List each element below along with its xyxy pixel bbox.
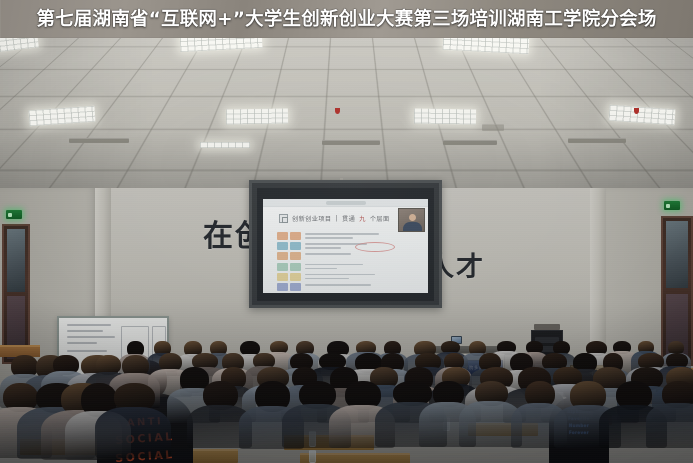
slide-row-chip (277, 263, 288, 271)
projected-slide: 创新创业项目 | 贯通 九 个层面 (263, 199, 428, 293)
whiteboard-note (67, 330, 103, 332)
slide-row-chips (277, 263, 301, 271)
slide-row-text (305, 283, 421, 291)
slide-title-rest: 贯通 (342, 214, 355, 223)
slide-row-chip (290, 242, 301, 250)
person-torso (646, 403, 693, 448)
slide-title-bullet-icon (279, 214, 288, 223)
slide-row (277, 252, 420, 260)
slide-row (277, 232, 420, 240)
slide-text-line (305, 274, 375, 276)
slide-row (277, 263, 420, 271)
slide-row-list (277, 232, 420, 293)
slide-title-separator: | (336, 215, 339, 222)
slide-text-line (305, 268, 337, 270)
ceiling-vent (69, 138, 129, 143)
sprinkler-head (335, 108, 340, 114)
slide-app-titlebar-pill (326, 201, 366, 205)
lecture-room-scene: 在创 人才 创新创业项目 | 贯通 九 个层面 (0, 38, 693, 463)
slide-row-text (305, 232, 421, 240)
ceiling-light-panel (414, 108, 476, 124)
slide-text-line (305, 247, 341, 249)
person-torso (95, 407, 171, 458)
slide-row-chips (277, 232, 301, 240)
slide-app-titlebar (263, 199, 428, 207)
ceiling-light-panel (226, 108, 288, 124)
slide-text-line (305, 264, 363, 266)
audience-area: ANTI SOCIAL SOCIAL Alphabet Favorite Num… (0, 335, 693, 463)
slide-row (277, 283, 420, 291)
board-inner-surface: 创新创业项目 | 贯通 九 个层面 (257, 188, 434, 301)
slide-row-chip (277, 273, 288, 281)
slide-row-chip (277, 232, 288, 240)
whiteboard-note (67, 324, 111, 326)
slide-row-chip (277, 283, 288, 291)
slide-row-text (305, 252, 421, 260)
ceiling-vent (443, 140, 497, 145)
slide-text-line (305, 237, 353, 239)
title-banner: 第七届湖南省“互联网+”大学生创新创业大赛第三场培训湖南工学院分会场 (0, 0, 693, 38)
slide-text-line (305, 253, 351, 255)
slide-text-line (305, 278, 349, 280)
ceiling-access-panel (482, 124, 504, 131)
bench (300, 453, 410, 463)
door-glass-panel (7, 229, 25, 292)
slide-row-text (305, 263, 421, 271)
slide-row-chip (290, 252, 301, 260)
sprinkler-head (634, 108, 639, 114)
slide-row (277, 242, 420, 250)
slide-row-chips (277, 242, 301, 250)
slide-row-chip (277, 242, 288, 250)
slide-title-accent: 九 (359, 214, 366, 223)
slide-row-chips (277, 283, 301, 291)
slide-row-chip (290, 273, 301, 281)
slide-title-main: 创新创业项目 (292, 214, 332, 223)
slide-row-chip (290, 232, 301, 240)
slide-row-chip (277, 252, 288, 260)
slide-text-line (305, 284, 371, 286)
slide-row-chips (277, 252, 301, 260)
slide-row-text (305, 273, 421, 281)
ceiling-vent (568, 138, 626, 143)
slide-row-chip (290, 283, 301, 291)
slide-row-chip (290, 263, 301, 271)
door-glass-panel (666, 221, 688, 288)
slide-highlight-ellipse (355, 242, 395, 252)
participant-head (409, 214, 416, 221)
ceiling-light-tube (200, 142, 250, 148)
audience-member (646, 381, 693, 447)
photo-screenshot: 第七届湖南省“互联网+”大学生创新创业大赛第三场培训湖南工学院分会场 (0, 0, 693, 463)
exit-sign-left (6, 210, 22, 219)
water-bottle (309, 450, 316, 463)
slide-row (277, 273, 420, 281)
participant-body (403, 222, 422, 232)
audience-member (95, 383, 173, 457)
banner-title-text: 第七届湖南省“互联网+”大学生创新创业大赛第三场培训湖南工学院分会场 (0, 5, 693, 31)
exit-sign-right (664, 201, 680, 210)
slide-row-chips (277, 273, 301, 281)
ceiling-vent (322, 140, 380, 145)
slide-title: 创新创业项目 | 贯通 九 个层面 (279, 214, 390, 223)
slide-title-tail: 个层面 (370, 214, 390, 223)
projection-board[interactable]: 创新创业项目 | 贯通 九 个层面 (249, 180, 442, 308)
slide-text-line (305, 233, 379, 235)
video-call-thumbnail[interactable] (398, 208, 425, 232)
